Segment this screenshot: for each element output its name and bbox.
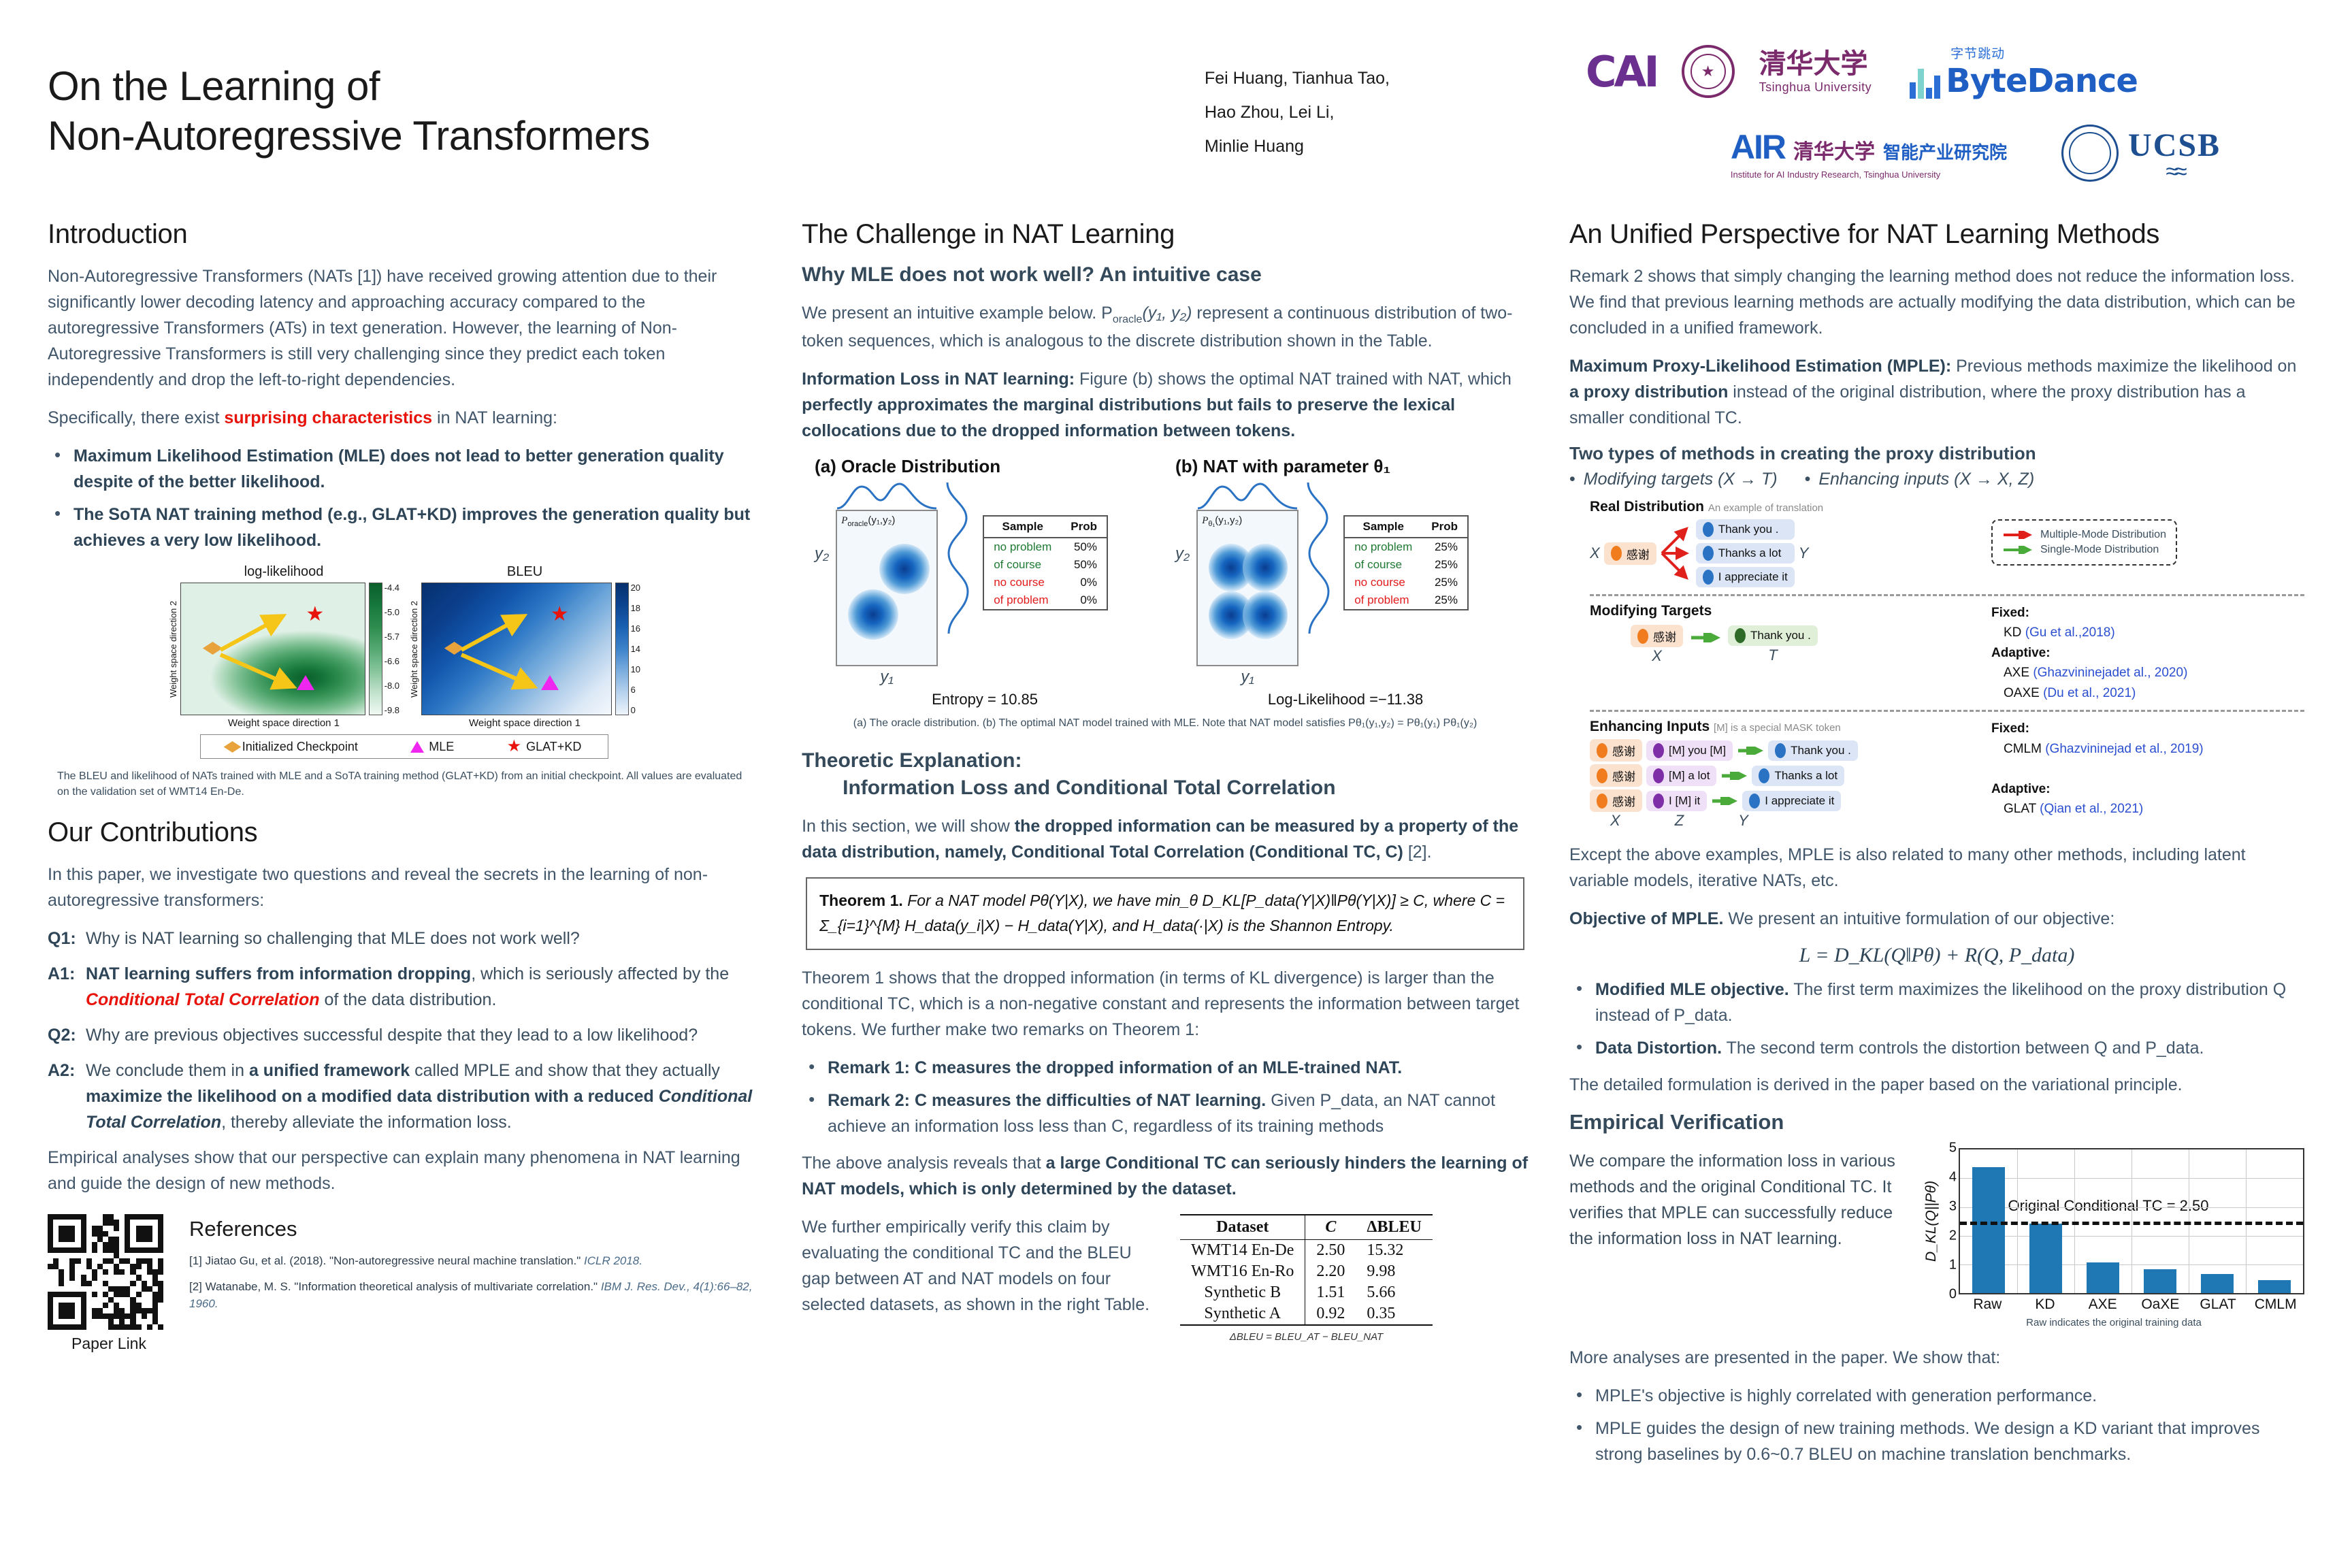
- orange-dot-icon: [1597, 768, 1607, 783]
- reference-1-text: [1] Jiatao Gu, et al. (2018). "Non-autor…: [189, 1254, 584, 1267]
- chart-threshold-annotation: Original Conditional TC = 2.50: [2008, 1197, 2209, 1215]
- author-line-2: Hao Zhou, Lei Li,: [1205, 95, 1586, 129]
- contour-ylabel-right: Weight space direction 2: [409, 583, 421, 715]
- a2-bold-2: maximize the likelihood on a modified da…: [86, 1087, 659, 1106]
- references-block: Paper Link References [1] Jiatao Gu, et …: [48, 1214, 761, 1353]
- mod-fixed-cite: (Gu et al.,2018): [2025, 625, 2115, 640]
- mod-adaptive-method-2: OAXE: [2004, 686, 2040, 700]
- colorbar-ticks-left: -4.4 -5.0 -5.7 -6.6 -8.0 -9.8: [385, 583, 399, 715]
- green-arrow-icon: [2002, 546, 2033, 554]
- theorem-title: Theorem 1.: [819, 892, 903, 909]
- tick: -6.6: [385, 656, 399, 666]
- bar-kd: [2029, 1224, 2061, 1293]
- green-dot-icon: [1735, 628, 1746, 643]
- figure-a-label: Poracle(y₁,y₂): [841, 514, 895, 528]
- purple-dot-icon: [1653, 794, 1664, 808]
- objective-bold: Objective of MPLE.: [1569, 909, 1723, 928]
- list-item: MPLE guides the design of new training m…: [1572, 1416, 2304, 1467]
- figure-a-marginal-right: [945, 480, 976, 636]
- enh-arrow-1: [1737, 747, 1764, 755]
- table-row: Synthetic B1.515.66: [1180, 1282, 1433, 1303]
- figure-b-ylabel: y₂: [1175, 480, 1190, 563]
- author-list: Fei Huang, Tianhua Tao, Hao Zhou, Lei Li…: [1205, 27, 1586, 163]
- qr-block[interactable]: Paper Link: [48, 1214, 170, 1353]
- a1-text: NAT learning suffers from information dr…: [86, 961, 761, 1013]
- ytick: 0: [1949, 1287, 1957, 1303]
- intro-paragraph-1: Non-Autoregressive Transformers (NATs [1…: [48, 263, 761, 393]
- diagram-legend: Multiple-Mode Distribution Single-Mode D…: [1991, 519, 2177, 566]
- type-2-label: Enhancing inputs (X → X, Z): [1818, 470, 2034, 489]
- mod-adaptive-label: Adaptive:: [1991, 646, 2051, 660]
- enh-arrow-3: [1711, 797, 1738, 805]
- chart-yticks: 5 4 3 2 1 0: [1941, 1148, 1959, 1294]
- diagram-green-arrow-1: [1690, 633, 1721, 642]
- contour-ylabel-left: Weight space direction 2: [168, 583, 180, 715]
- blue-dot-icon: [1703, 522, 1714, 537]
- orange-dot-icon: [1597, 743, 1607, 758]
- bar-axe: [2087, 1262, 2119, 1294]
- contrib-intro: In this paper, we investigate two questi…: [48, 862, 761, 913]
- dataset-table-note: ΔBLEU = BLEU_AT − BLEU_NAT: [1180, 1331, 1433, 1343]
- intro-paragraph-2: Specifically, there exist surprising cha…: [48, 405, 761, 431]
- intro-bullet-1: Maximum Likelihood Estimation (MLE) does…: [73, 446, 724, 491]
- c3-p2-mid: Previous methods maximize the likelihood…: [1951, 357, 2296, 376]
- two-types-bullets: •Modifying targets (X → T) •Enhancing in…: [1569, 470, 2304, 489]
- diagram-x-label-1: X: [1590, 544, 1600, 562]
- poster-root: On the Learning of Non-Autoregressive Tr…: [0, 0, 2352, 1568]
- intro-p2-pre: Specifically, there exist: [48, 408, 224, 427]
- figure-a-marginal-top: [836, 480, 938, 510]
- subheading-why-mle: Why MLE does not work well? An intuitive…: [802, 263, 1529, 287]
- mod-adaptive-cite-2: (Du et al., 2021): [2043, 686, 2136, 700]
- table-row: no problem25%: [1345, 538, 1467, 556]
- a1-end: of the data distribution.: [320, 990, 497, 1009]
- answer-2: A2: We conclude them in a unified framew…: [48, 1058, 761, 1135]
- colorbar-ticks-right: 20 18 16 14 10 6 0: [631, 583, 640, 715]
- air-logo-cn: 清华大学: [1793, 135, 1875, 165]
- orange-dot-icon: [1637, 629, 1648, 644]
- legend-label-glatkd: GLAT+KD: [526, 740, 581, 754]
- diagram-enhancing-sub: [M] is a special MASK token: [1714, 722, 1841, 734]
- air-logo-cn2: 智能产业研究院: [1883, 139, 2007, 164]
- question-1: Q1: Why is NAT learning so challenging t…: [48, 926, 761, 951]
- dataset-intro: We further empirically verify this claim…: [802, 1214, 1162, 1318]
- table-row: no course25%: [1345, 574, 1467, 591]
- purple-dot-icon: [1653, 743, 1664, 758]
- dataset-col-header-1: Dataset: [1180, 1215, 1305, 1240]
- legend-label-mle: MLE: [429, 740, 454, 754]
- blue-dot-icon: [1775, 743, 1786, 758]
- star-icon: ★: [507, 738, 522, 755]
- subheading-empirical: Empirical Verification: [1569, 1110, 2304, 1134]
- diagram-mple-methods: Real Distribution An example of translat…: [1569, 496, 2304, 830]
- diagram-t-label: T: [1728, 647, 1818, 664]
- ytick: 5: [1949, 1141, 1957, 1156]
- theoretic-paragraph-2: Theorem 1 shows that the dropped informa…: [802, 965, 1529, 1043]
- intro-bullet-2: The SoTA NAT training method (e.g., GLAT…: [73, 505, 750, 550]
- figure-a-ylabel: y₂: [815, 480, 829, 563]
- list-item: Remark 1: C measures the dropped informa…: [804, 1055, 1529, 1081]
- oracle-entropy: Entropy = 10.85: [815, 691, 1155, 708]
- challenge-paragraph-2: Information Loss in NAT learning: Figure…: [802, 366, 1529, 444]
- table-oracle-probs: SampleProb no problem50% of course50% no…: [983, 515, 1108, 610]
- poster-columns: Introduction Non-Autoregressive Transfor…: [48, 219, 2304, 1478]
- remarks-list: Remark 1: C measures the dropped informa…: [804, 1055, 1529, 1139]
- enh-output-3: I appreciate it: [1742, 791, 1841, 811]
- xtick-oaxe: OaXE: [2131, 1294, 2189, 1313]
- figure-b-label: Pθ₁(y₁,y₂): [1202, 514, 1242, 528]
- list-item: The SoTA NAT training method (e.g., GLAT…: [50, 502, 761, 553]
- diagram-modifying-methods: Fixed: KD (Gu et al.,2018) Adaptive: AXE…: [1991, 603, 2187, 703]
- column-unified: An Unified Perspective for NAT Learning …: [1569, 219, 2304, 1478]
- type-1-label: Modifying targets (X → T): [1584, 470, 1778, 489]
- cai-logo-icon: CAI: [1586, 47, 1657, 97]
- table-header-prob: Prob: [1422, 517, 1467, 538]
- enh-output-2: Thanks a lot: [1752, 766, 1844, 786]
- enh-adaptive-method: GLAT: [2004, 802, 2036, 816]
- xtick-glat: GLAT: [2189, 1294, 2247, 1313]
- diagram-divider-1: [1590, 594, 2304, 596]
- tsinghua-seal-icon: [1682, 45, 1735, 98]
- contour-loglikelihood: log-likelihood Weight space direction 2 …: [168, 564, 399, 729]
- diagram-modifying-head: Modifying Targets: [1590, 603, 1971, 619]
- c3-p2-bold: Maximum Proxy-Likelihood Estimation (MPL…: [1569, 357, 1951, 376]
- figure-loss-landscape: log-likelihood Weight space direction 2 …: [159, 564, 649, 759]
- chart-note: Raw indicates the original training data: [1923, 1317, 2304, 1328]
- diamond-icon: [223, 741, 241, 753]
- figure-legend: Initialized Checkpoint MLE ★GLAT+KD: [200, 734, 608, 759]
- tick: -4.4: [385, 583, 399, 593]
- c2-p5-pre: The above analysis reveals that: [802, 1154, 1046, 1173]
- tick: 20: [631, 583, 640, 593]
- ytick: 3: [1949, 1199, 1957, 1215]
- c2-p1-args: (y₁, y₂): [1142, 304, 1192, 323]
- objective-rest: We present an intuitive formulation of o…: [1723, 909, 2114, 928]
- poster-header: On the Learning of Non-Autoregressive Tr…: [48, 27, 2304, 204]
- reference-2-text: [2] Watanabe, M. S. "Information theoret…: [189, 1280, 601, 1293]
- legend-multi-mode: Multiple-Mode Distribution: [2002, 529, 2166, 541]
- q2-tag: Q2:: [48, 1022, 86, 1048]
- chart-information-loss: D_KL(Q||Pθ) 5 4 3 2 1 0 Original Conditi…: [1923, 1148, 2304, 1328]
- q1-text: Why is NAT learning so challenging that …: [86, 926, 761, 951]
- table-row: of course50%: [984, 556, 1107, 574]
- contour-title-right: BLEU: [409, 564, 640, 580]
- dataset-table-block: We further empirically verify this claim…: [802, 1214, 1529, 1343]
- threshold-line: [1960, 1222, 2303, 1225]
- diagram-target-2: Thanks a lot: [1696, 543, 1795, 563]
- table-row: WMT14 En-De2.5015.32: [1180, 1240, 1433, 1262]
- diagram-target-3: I appreciate it: [1696, 567, 1795, 587]
- enh-output-1: Thank you .: [1768, 740, 1858, 761]
- diagram-y-label-2: Y: [1738, 812, 1748, 830]
- enh-mask-3: I [M] it: [1646, 791, 1707, 811]
- list-item: Maximum Likelihood Estimation (MLE) does…: [50, 443, 761, 495]
- c2-p1-sub: oracle: [1113, 314, 1143, 325]
- bytedance-logo-text: ByteDance: [1946, 62, 2138, 100]
- section-heading-unified: An Unified Perspective for NAT Learning …: [1569, 219, 2304, 250]
- diagram-source-token-1: 感谢: [1604, 542, 1656, 565]
- diagram-source-token-2: 感谢: [1631, 625, 1683, 647]
- figure-b-marginal-top: [1196, 480, 1298, 510]
- table-row: of course25%: [1345, 556, 1467, 574]
- table-header-sample: Sample: [1345, 517, 1422, 538]
- bytedance-bars-icon: [1910, 63, 1940, 99]
- dataset-col-header-2: C: [1305, 1215, 1356, 1240]
- column-introduction: Introduction Non-Autoregressive Transfor…: [48, 219, 761, 1478]
- chart-plot-area: Original Conditional TC = 2.50: [1959, 1148, 2304, 1294]
- enh-adaptive-cite: (Qian et al., 2021): [2040, 802, 2143, 816]
- empirical-text: We compare the information loss in vario…: [1569, 1148, 1910, 1328]
- figure-distributions: (a) Oracle Distribution y₂ Poracle(y₁,y₂…: [802, 456, 1529, 687]
- dataset-table-wrap: DatasetCΔBLEU WMT14 En-De2.5015.32 WMT16…: [1180, 1214, 1433, 1343]
- contrib-closing: Empirical analyses show that our perspec…: [48, 1145, 761, 1196]
- subheading-theoretic-1: Theoretic Explanation:: [802, 749, 1529, 772]
- tick: 14: [631, 644, 640, 654]
- c2-p2-bold: Information Loss in NAT learning:: [802, 370, 1075, 389]
- tsinghua-logo-cn: 清华大学: [1759, 50, 1872, 78]
- c2-p3-post: [2].: [1403, 843, 1432, 862]
- enh-fixed-method: CMLM: [2004, 742, 2042, 756]
- poster-title-line-1: On the Learning of: [48, 61, 1205, 111]
- diagram-x-label-3: X: [1610, 812, 1620, 830]
- xtick-raw: Raw: [1959, 1294, 2016, 1313]
- chart-ylabel: D_KL(Q||Pθ): [1923, 1148, 1941, 1294]
- figure-b-title: (b) NAT with parameter θ₁: [1175, 456, 1516, 477]
- unified-paragraph-4: The detailed formulation is derived in t…: [1569, 1072, 2304, 1098]
- air-logo-sub: Institute for AI Industry Research, Tsin…: [1731, 169, 2007, 180]
- bullet-dot: •: [1569, 470, 1575, 489]
- ytick: 4: [1949, 1170, 1957, 1186]
- chart-xtick-labels: RawKDAXEOaXEGLATCMLM: [1959, 1294, 2304, 1313]
- legend-item-mle: MLE: [410, 740, 454, 754]
- objective-bullets: Modified MLE objective. The first term m…: [1572, 977, 2304, 1061]
- empirical-block: We compare the information loss in vario…: [1569, 1148, 2304, 1328]
- contour-plot-left: ★: [180, 583, 365, 715]
- figure-b-heatmap: Pθ₁(y₁,y₂): [1196, 510, 1298, 666]
- answer-1: A1: NAT learning suffers from informatio…: [48, 961, 761, 1013]
- bullet-dot: •: [1805, 470, 1811, 489]
- mod-adaptive-method-1: AXE: [2004, 666, 2029, 680]
- list-item: Data Distortion. The second term control…: [1572, 1035, 2304, 1061]
- table-nat-probs: SampleProb no problem25% of course25% no…: [1343, 515, 1469, 610]
- ucsb-seal-icon: [2061, 125, 2119, 182]
- list-item: MPLE's objective is highly correlated wi…: [1572, 1383, 2304, 1409]
- tick: 16: [631, 623, 640, 634]
- diagram-divider-2: [1590, 710, 2304, 712]
- section-heading-challenge: The Challenge in NAT Learning: [802, 219, 1529, 250]
- remark-1: Remark 1: C measures the dropped informa…: [828, 1058, 1402, 1077]
- tick: 10: [631, 664, 640, 674]
- legend-single-mode: Single-Mode Distribution: [2002, 544, 2166, 556]
- reference-1: [1] Jiatao Gu, et al. (2018). "Non-autor…: [189, 1252, 761, 1270]
- contour-title-left: log-likelihood: [168, 564, 399, 580]
- contour-arrows-left: [181, 583, 365, 715]
- column-challenge: The Challenge in NAT Learning Why MLE do…: [802, 219, 1529, 1478]
- diagram-z-label: Z: [1675, 812, 1684, 830]
- reference-1-journal: ICLR 2018.: [584, 1254, 642, 1267]
- xtick-axe: AXE: [2074, 1294, 2131, 1313]
- figure-caption-distributions: (a) The oracle distribution. (b) The opt…: [811, 715, 1519, 731]
- contour-arrows-right: [422, 583, 611, 715]
- orange-dot-icon: [1597, 794, 1607, 808]
- air-logo-icon: AIR: [1731, 127, 1785, 167]
- bar-glat: [2201, 1274, 2233, 1293]
- c2-p3-pre: In this section, we will show: [802, 817, 1015, 836]
- colorbar-left: [369, 583, 382, 715]
- unified-paragraph-1: Remark 2 shows that simply changing the …: [1569, 263, 2304, 341]
- diagram-real-dist-head: Real Distribution An example of translat…: [1590, 499, 1971, 515]
- blue-dot-icon: [1703, 570, 1714, 585]
- dataset-table: DatasetCΔBLEU WMT14 En-De2.5015.32 WMT16…: [1180, 1214, 1433, 1326]
- mod-fixed-method: KD: [2004, 625, 2021, 640]
- dataset-col-header-3: ΔBLEU: [1356, 1215, 1432, 1240]
- a2-bold-1: a unified framework: [249, 1061, 410, 1080]
- type-enhancing-inputs: •Enhancing inputs (X → X, Z): [1805, 470, 2035, 489]
- figure-oracle: (a) Oracle Distribution y₂ Poracle(y₁,y₂…: [815, 456, 1155, 687]
- figure-b-marginal-right: [1305, 480, 1337, 636]
- c2-p2-mid: Figure (b) shows the optimal NAT trained…: [1075, 370, 1512, 389]
- ucsb-wave-icon: ≈≈: [2166, 164, 2183, 180]
- enh-adaptive-label: Adaptive:: [1991, 782, 2051, 796]
- tick: -9.8: [385, 705, 399, 715]
- c3-p2-bold2: a proxy distribution: [1569, 382, 1728, 402]
- final-bullet-1: MPLE's objective is highly correlated wi…: [1595, 1386, 2097, 1405]
- tick: 18: [631, 603, 640, 613]
- orange-dot-icon: [1611, 546, 1622, 561]
- a1-bold: NAT learning suffers from information dr…: [86, 964, 471, 983]
- mod-adaptive-cite-1: (Ghazvininejadet al., 2020): [2033, 666, 2187, 680]
- unified-paragraph-2: Maximum Proxy-Likelihood Estimation (MPL…: [1569, 353, 2304, 431]
- table-header-prob: Prob: [1061, 517, 1107, 538]
- purple-dot-icon: [1653, 768, 1664, 783]
- title-block: On the Learning of Non-Autoregressive Tr…: [48, 27, 1205, 161]
- table-row: of problem0%: [984, 591, 1107, 609]
- q1-tag: Q1:: [48, 926, 86, 951]
- a1-mid: , which is seriously affected by the: [471, 964, 729, 983]
- a2-pre: We conclude them in: [86, 1061, 249, 1080]
- q2-text: Why are previous objectives successful d…: [86, 1022, 761, 1048]
- legend-item-init: Initialized Checkpoint: [227, 740, 358, 754]
- tsinghua-logo-en: Tsinghua University: [1759, 81, 1872, 93]
- blue-dot-icon: [1749, 794, 1760, 808]
- table-row: of problem25%: [1345, 591, 1467, 609]
- a2-mid: called MPLE and show that they actually: [410, 1061, 720, 1080]
- author-line-3: Minlie Huang: [1205, 129, 1586, 163]
- nat-loglikelihood: Log-Likelihood =−11.38: [1175, 691, 1516, 708]
- table-row: no course0%: [984, 574, 1107, 591]
- figure-b-xlabel: y₁: [1196, 668, 1298, 687]
- tick: -5.0: [385, 607, 399, 617]
- red-arrow-icon: [2002, 531, 2033, 539]
- objective-intro: Objective of MPLE. We present an intuiti…: [1569, 906, 2304, 932]
- references-heading: References: [189, 1217, 761, 1241]
- enh-source-2: 感谢: [1590, 764, 1642, 787]
- a2-tag: A2:: [48, 1058, 86, 1135]
- subheading-two-types: Two types of methods in creating the pro…: [1569, 443, 2304, 464]
- figure-a-heatmap: Poracle(y₁,y₂): [836, 510, 938, 666]
- c2-p2-bold2: perfectly approximates the marginal dist…: [802, 395, 1455, 440]
- table-row: Synthetic A0.920.35: [1180, 1303, 1433, 1325]
- author-line-1: Fei Huang, Tianhua Tao,: [1205, 61, 1586, 95]
- enh-fixed-label: Fixed:: [1991, 721, 2029, 736]
- table-row: WMT16 En-Ro2.209.98: [1180, 1261, 1433, 1282]
- contour-xlabel-right: Weight space direction 1: [409, 717, 640, 729]
- enh-source-3: 感谢: [1590, 789, 1642, 812]
- tick: -5.7: [385, 632, 399, 642]
- tick: -8.0: [385, 681, 399, 691]
- blue-dot-icon: [1759, 768, 1769, 783]
- final-bullet-2: MPLE guides the design of new training m…: [1595, 1419, 2259, 1464]
- bar-cmlm: [2258, 1280, 2290, 1293]
- figure-a-title: (a) Oracle Distribution: [815, 456, 1155, 477]
- diagram-red-arrows: [1661, 521, 1692, 586]
- legend-label-init: Initialized Checkpoint: [242, 740, 358, 754]
- final-bullets: MPLE's objective is highly correlated wi…: [1572, 1383, 2304, 1467]
- diagram-target-1: Thank you .: [1696, 519, 1795, 540]
- theorem-body: For a NAT model Pθ(Y|X), we have min_θ D…: [819, 892, 1505, 935]
- ytick: 2: [1949, 1228, 1957, 1244]
- c2-p1-pre: We present an intuitive example below. P: [802, 304, 1113, 323]
- reference-2: [2] Watanabe, M. S. "Information theoret…: [189, 1278, 761, 1313]
- enh-mask-1: [M] you [M]: [1646, 740, 1733, 761]
- theoretic-paragraph-1: In this section, we will show the droppe…: [802, 813, 1529, 865]
- contour-xlabel-left: Weight space direction 1: [168, 717, 399, 729]
- intro-bullet-list: Maximum Likelihood Estimation (MLE) does…: [50, 443, 761, 553]
- figure-nat: (b) NAT with parameter θ₁ y₂ Pθ₁(y₁,y₂): [1175, 456, 1516, 687]
- figure-caption-landscape: The BLEU and likelihood of NATs trained …: [57, 768, 751, 800]
- bytedance-logo-cn: 字节跳动: [1950, 44, 2005, 62]
- tick: 0: [631, 705, 640, 715]
- contour-plot-right: ★: [421, 583, 612, 715]
- objective-bullet-2-bold: Data Distortion.: [1595, 1039, 1722, 1058]
- objective-bullet-2-rest: The second term controls the distortion …: [1722, 1039, 2204, 1058]
- tick: 6: [631, 685, 640, 695]
- theoretic-paragraph-3: The above analysis reveals that a large …: [802, 1150, 1529, 1202]
- a1-tag: A1:: [48, 961, 86, 1013]
- table-row: no problem50%: [984, 538, 1107, 556]
- a2-end: , thereby alleviate the information loss…: [221, 1113, 512, 1132]
- objective-bullet-1-bold: Modified MLE objective.: [1595, 980, 1789, 999]
- blue-dot-icon: [1703, 546, 1714, 561]
- references-list: References [1] Jiatao Gu, et al. (2018).…: [189, 1214, 761, 1353]
- enh-arrow-2: [1720, 772, 1748, 780]
- subheading-theoretic-2: Information Loss and Conditional Total C…: [802, 777, 1529, 800]
- poster-title-line-2: Non-Autoregressive Transformers: [48, 111, 1205, 161]
- intro-p2-highlight: surprising characteristics: [224, 408, 432, 427]
- enh-fixed-cite: (Ghazvininejad et al., 2019): [2045, 742, 2203, 756]
- list-item: Modified MLE objective. The first term m…: [1572, 977, 2304, 1028]
- qr-label: Paper Link: [48, 1335, 170, 1353]
- triangle-icon: [410, 741, 424, 753]
- diagram-x-label-2: X: [1631, 647, 1683, 665]
- diagram-enhancing-head: Enhancing Inputs [M] is a special MASK t…: [1590, 719, 1971, 735]
- a2-text: We conclude them in a unified framework …: [86, 1058, 761, 1135]
- challenge-paragraph-1: We present an intuitive example below. P…: [802, 300, 1529, 354]
- intro-p2-post: in NAT learning:: [432, 408, 557, 427]
- mod-fixed-label: Fixed:: [1991, 606, 2029, 620]
- final-intro: More analyses are presented in the paper…: [1569, 1345, 2304, 1371]
- diagram-y-label-1: Y: [1799, 544, 1809, 562]
- diagram-real-dist-sub: An example of translation: [1708, 502, 1823, 514]
- legend-item-glatkd: ★GLAT+KD: [507, 738, 582, 755]
- a1-highlight: Conditional Total Correlation: [86, 990, 320, 1009]
- xtick-kd: KD: [2016, 1294, 2074, 1313]
- section-heading-contributions: Our Contributions: [48, 817, 761, 848]
- mple-formula: L = D_KL(Q‖Pθ) + R(Q, P_data): [1569, 944, 2304, 967]
- logo-group: CAI 清华大学 Tsinghua University 字节跳动 ByteDa…: [1586, 27, 2304, 197]
- qr-code-icon[interactable]: [48, 1214, 163, 1330]
- enh-mask-2: [M] a lot: [1646, 766, 1716, 786]
